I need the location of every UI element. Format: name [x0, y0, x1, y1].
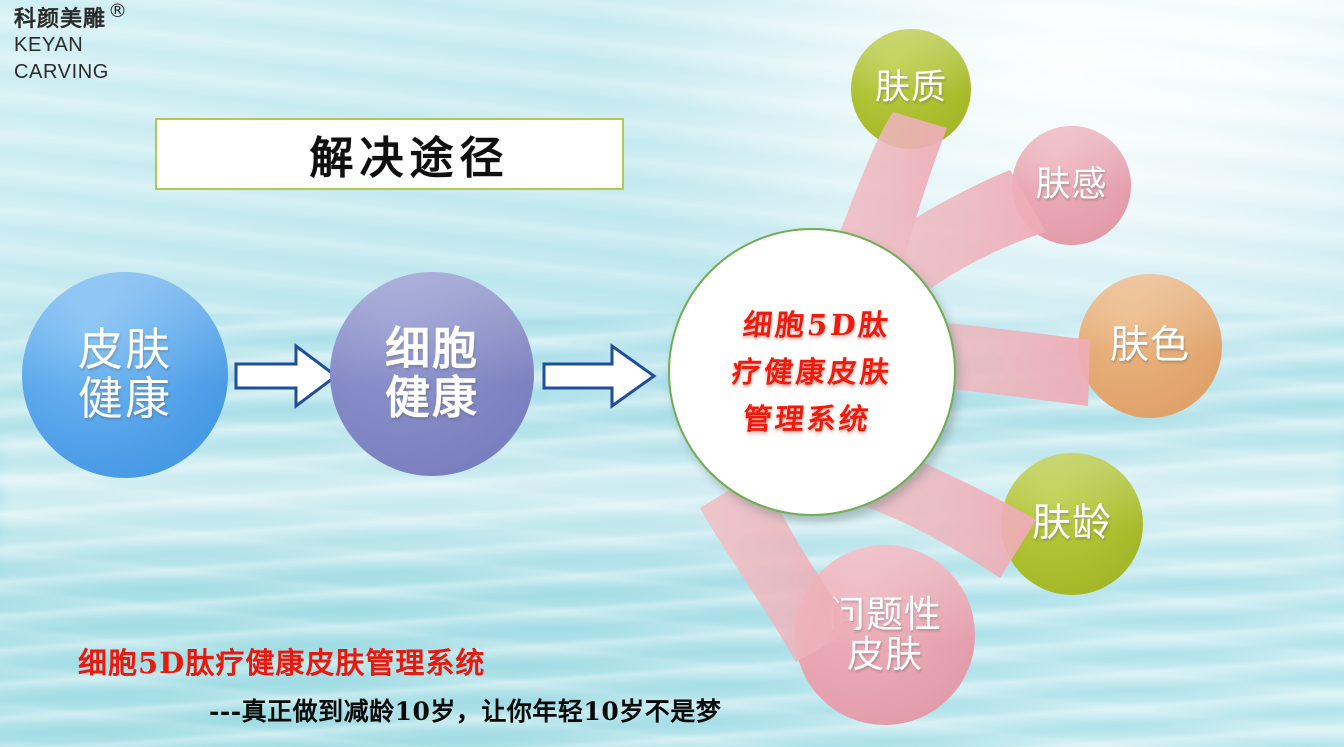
- hub-line-3: 管理系统: [725, 395, 890, 442]
- brand-name-cn: 科颜美雕: [14, 8, 106, 31]
- circle-problem-skin-line2: 皮肤: [828, 635, 942, 675]
- circle-skin-age-label: 肤龄: [1032, 503, 1112, 545]
- registered-trademark-icon: ®: [108, 2, 127, 21]
- hub-line-1: 细胞5D肽: [734, 302, 899, 349]
- circle-skin-health-line2: 健康: [78, 375, 172, 424]
- circle-skin-health[interactable]: 皮肤 健康: [22, 272, 228, 478]
- circle-cell-health[interactable]: 细胞 健康: [330, 272, 534, 476]
- brand-name-en-line2: CARVING: [14, 61, 204, 85]
- brand-name-en-line1: KEYAN: [14, 34, 204, 58]
- slide-title-box: 解决途径: [155, 118, 624, 190]
- circle-skin-health-line1: 皮肤: [78, 326, 172, 375]
- circle-central-system[interactable]: 细胞5D肽 疗健康皮肤 管理系统: [668, 228, 956, 516]
- circle-skin-feel-label: 肤感: [1035, 167, 1107, 205]
- right-arrow-icon-2: [540, 340, 658, 412]
- circle-skin-age[interactable]: 肤龄: [1001, 453, 1143, 595]
- circle-cell-health-line2: 健康: [385, 374, 479, 423]
- caption-tagline: ---真正做到减龄10岁，让你年轻10岁不是梦: [209, 692, 721, 728]
- caption-system-name: 细胞5D肽疗健康皮肤管理系统: [78, 640, 485, 682]
- circle-skin-feel[interactable]: 肤感: [1012, 126, 1131, 245]
- circle-skin-tone[interactable]: 肤色: [1078, 274, 1222, 418]
- brand-logo: 科颜美雕® KEYAN CARVING: [14, 8, 204, 84]
- circle-skin-tone-label: 肤色: [1110, 325, 1190, 367]
- circle-cell-health-line1: 细胞: [385, 325, 479, 374]
- circle-skin-texture[interactable]: 肤质: [851, 29, 971, 149]
- hub-line-2: 疗健康皮肤: [730, 349, 895, 396]
- circle-problem-skin[interactable]: 问题性 皮肤: [795, 545, 975, 725]
- circle-problem-skin-line1: 问题性: [828, 595, 942, 635]
- page-title: 解决途径: [310, 122, 510, 186]
- right-arrow-icon-1: [232, 340, 340, 412]
- circle-skin-texture-label: 肤质: [875, 70, 947, 108]
- slide-canvas: 科颜美雕® KEYAN CARVING 解决途径 皮肤 健康: [0, 0, 1344, 747]
